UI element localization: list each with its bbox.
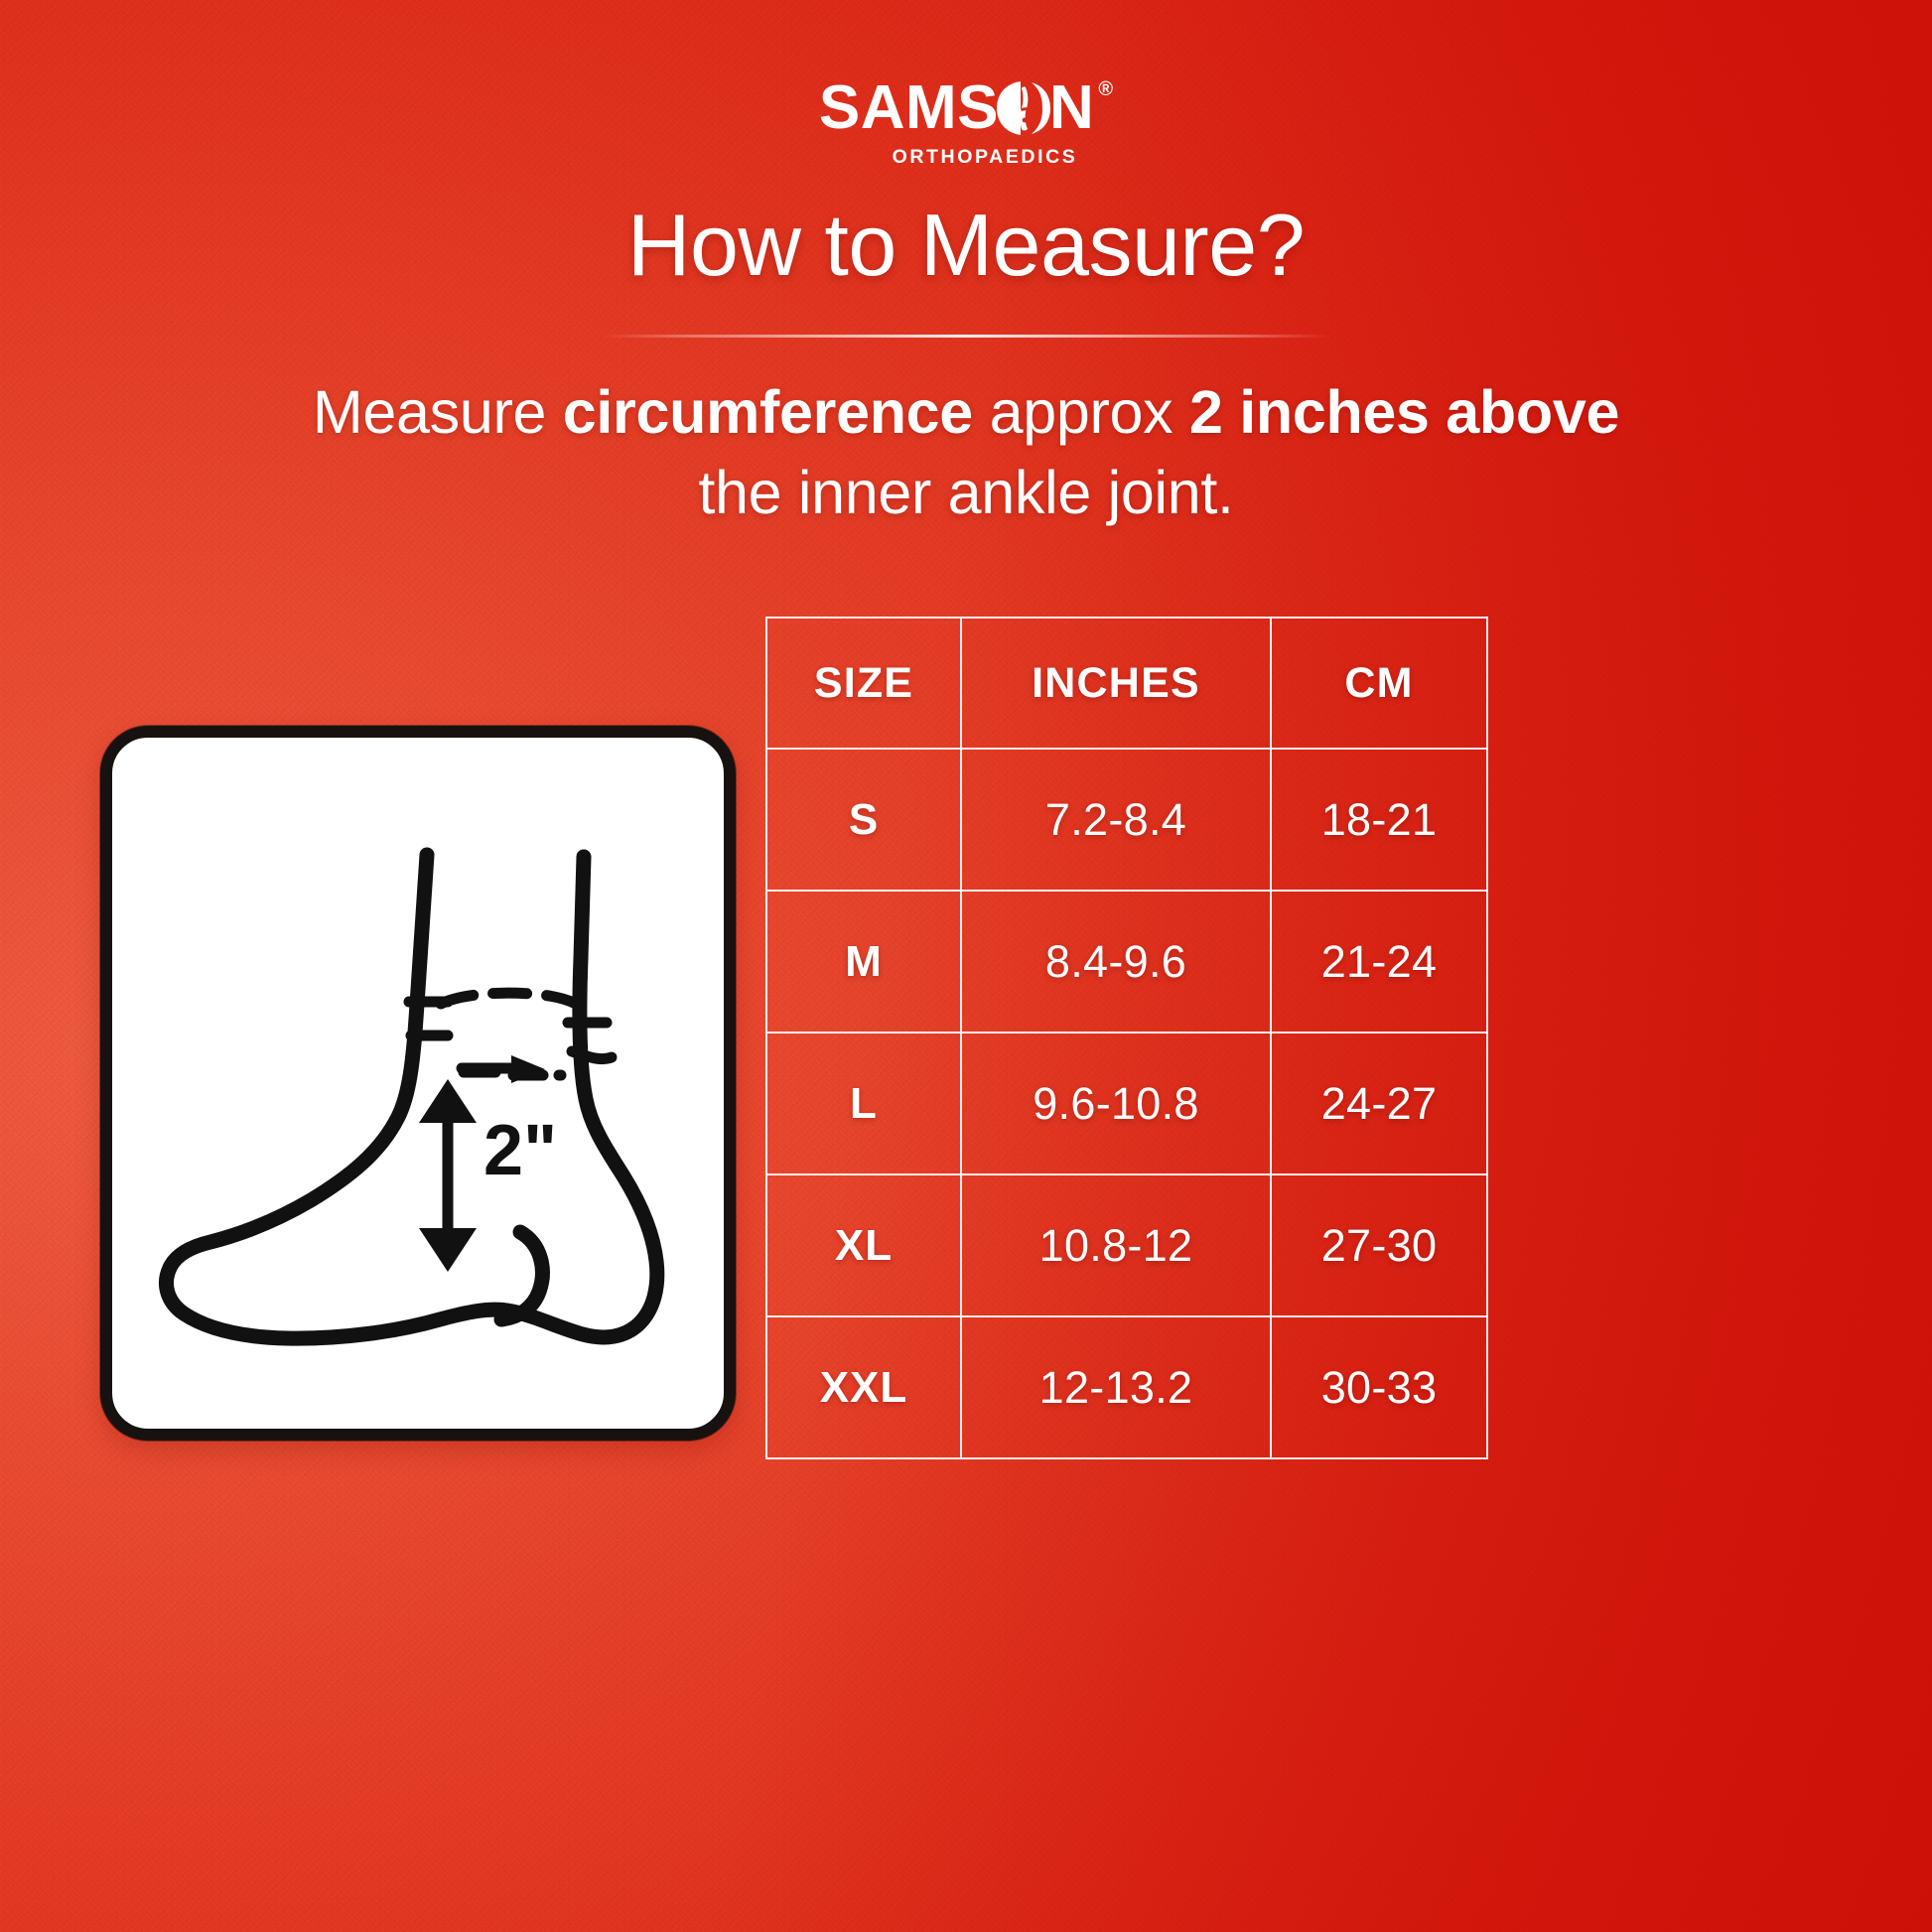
cell-size: XL — [766, 1174, 961, 1316]
cell-inches: 9.6-10.8 — [961, 1033, 1271, 1174]
cell-inches: 12-13.2 — [961, 1316, 1271, 1458]
cell-inches: 8.4-9.6 — [961, 891, 1271, 1033]
table-header-row: SIZE INCHES CM — [766, 618, 1487, 749]
cell-size: L — [766, 1033, 961, 1174]
column-header-cm: CM — [1271, 618, 1487, 749]
cell-cm: 27-30 — [1271, 1174, 1487, 1316]
cell-inches: 10.8-12 — [961, 1174, 1271, 1316]
cell-size: S — [766, 749, 961, 891]
illustration-panel: 2" — [100, 726, 736, 1441]
cell-size: XXL — [766, 1316, 961, 1458]
table-row: XXL 12-13.2 30-33 — [766, 1316, 1487, 1458]
instructions-emphasis-distance: 2 inches above — [1189, 378, 1619, 446]
title-divider — [602, 335, 1331, 338]
instructions-emphasis-circumference: circumference — [563, 378, 973, 446]
size-chart-table: SIZE INCHES CM S 7.2-8.4 18-21 M 8.4-9.6… — [765, 617, 1488, 1459]
brand-name-part-2: N — [1049, 77, 1094, 139]
brand-logo: SAMS N ® ORTHOPAEDICS — [0, 77, 1932, 169]
brand-tagline: ORTHOPAEDICS — [893, 146, 1078, 169]
cell-cm: 24-27 — [1271, 1033, 1487, 1174]
column-header-size: SIZE — [766, 618, 961, 749]
table-row: XL 10.8-12 27-30 — [766, 1174, 1487, 1316]
foot-ankle-measurement-diagram: 2" — [112, 738, 724, 1429]
instructions-line1-middle: approx — [973, 378, 1189, 446]
cell-size: M — [766, 891, 961, 1033]
cell-cm: 21-24 — [1271, 891, 1487, 1033]
brand-logo-row: SAMS N ® — [819, 77, 1113, 139]
measure-instructions: Measure circumference approx 2 inches ab… — [0, 372, 1932, 533]
instructions-line2: the inner ankle joint. — [698, 459, 1233, 526]
instructions-line1-prefix: Measure — [313, 378, 563, 446]
brand-name-part-1: SAMS — [819, 77, 999, 139]
table-row: M 8.4-9.6 21-24 — [766, 891, 1487, 1033]
cell-cm: 18-21 — [1271, 749, 1487, 891]
table-row: S 7.2-8.4 18-21 — [766, 749, 1487, 891]
registered-trademark-icon: ® — [1098, 79, 1113, 99]
cell-inches: 7.2-8.4 — [961, 749, 1271, 891]
cell-cm: 30-33 — [1271, 1316, 1487, 1458]
table-row: L 9.6-10.8 24-27 — [766, 1033, 1487, 1174]
spine-bone-mark-icon — [995, 78, 1052, 138]
page-title: How to Measure? — [0, 195, 1932, 296]
measurement-label: 2" — [483, 1111, 557, 1190]
column-header-inches: INCHES — [961, 618, 1271, 749]
